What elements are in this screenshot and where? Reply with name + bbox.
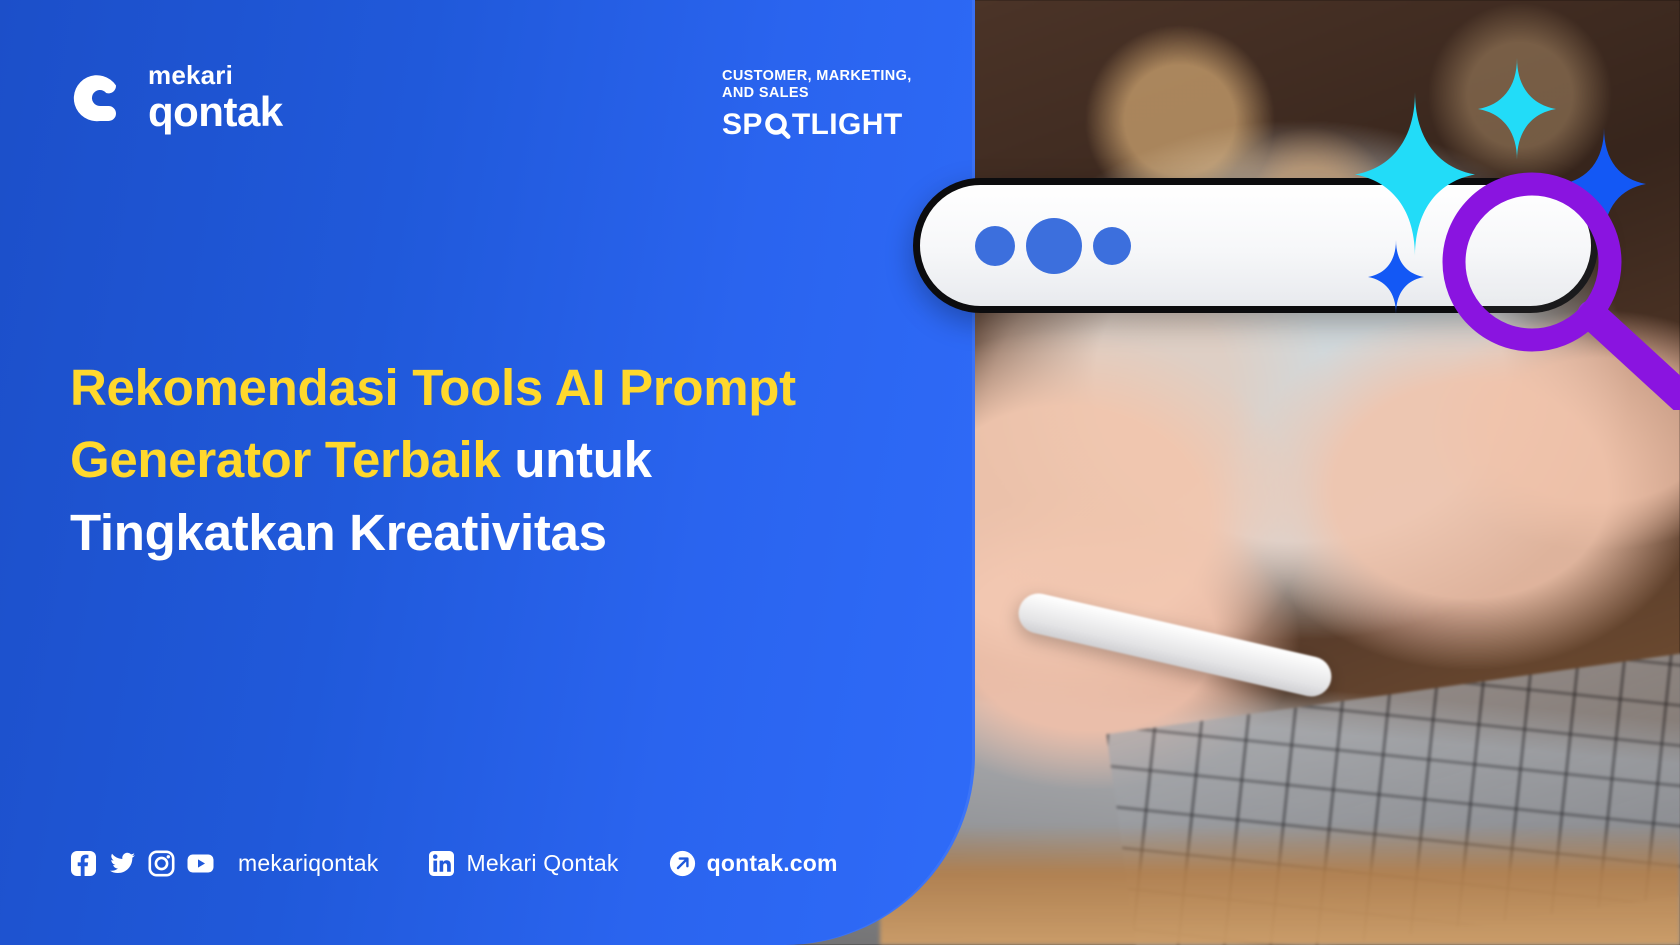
twitter-icon[interactable] bbox=[109, 850, 136, 877]
search-dot-small-left bbox=[975, 226, 1015, 266]
website-group[interactable]: qontak.com bbox=[669, 850, 838, 877]
facebook-icon[interactable] bbox=[70, 850, 97, 877]
spotlight-word-after: TLIGHT bbox=[792, 108, 903, 142]
arrow-up-right-circle-icon[interactable] bbox=[669, 850, 696, 877]
headline-line-3: Tingkatkan Kreativitas bbox=[70, 504, 607, 561]
spotlight-lockup: CUSTOMER, MARKETING, AND SALES SP TLIGHT bbox=[722, 68, 912, 142]
linkedin-group[interactable]: Mekari Qontak bbox=[428, 850, 618, 877]
logo-name-bottom: qontak bbox=[148, 91, 283, 133]
spotlight-kicker-line-1: CUSTOMER, MARKETING, bbox=[722, 68, 912, 85]
website-label: qontak.com bbox=[707, 850, 838, 877]
stylus-pen bbox=[1015, 590, 1336, 701]
linkedin-label: Mekari Qontak bbox=[466, 850, 618, 877]
youtube-icon[interactable] bbox=[187, 850, 214, 877]
desk-surface bbox=[880, 825, 1680, 945]
sparkle-blue-small-icon bbox=[1368, 240, 1424, 314]
social-handle: mekariqontak bbox=[238, 850, 378, 877]
mekari-c-mark-icon bbox=[70, 68, 130, 128]
search-dot-large bbox=[1026, 218, 1082, 274]
spotlight-word-before: SP bbox=[722, 108, 763, 142]
social-icon-group: mekariqontak bbox=[70, 850, 378, 877]
search-dots-group bbox=[975, 218, 1131, 274]
marketing-banner: mekari qontak CUSTOMER, MARKETING, AND S… bbox=[0, 0, 1680, 945]
magnifier-glass-icon bbox=[1430, 165, 1680, 410]
headline-line-1: Rekomendasi Tools AI Prompt bbox=[70, 359, 796, 416]
linkedin-icon[interactable] bbox=[428, 850, 455, 877]
logo-name-top: mekari bbox=[148, 62, 283, 88]
spotlight-wordmark: SP TLIGHT bbox=[722, 108, 912, 142]
headline-line-2-plain: untuk bbox=[514, 431, 651, 488]
sparkle-cyan-medium-icon bbox=[1478, 58, 1556, 160]
headline-line-2-highlight: Generator Terbaik bbox=[70, 431, 500, 488]
spotlight-kicker-line-2: AND SALES bbox=[722, 85, 912, 102]
search-dot-small-right bbox=[1093, 227, 1131, 265]
footer-social-bar: mekariqontak Mekari Qontak qontak.co bbox=[70, 850, 838, 877]
instagram-icon[interactable] bbox=[148, 850, 175, 877]
brand-logo[interactable]: mekari qontak bbox=[70, 62, 283, 133]
page-title: Rekomendasi Tools AI Prompt Generator Te… bbox=[70, 352, 900, 569]
magnifier-o-icon bbox=[764, 112, 791, 139]
